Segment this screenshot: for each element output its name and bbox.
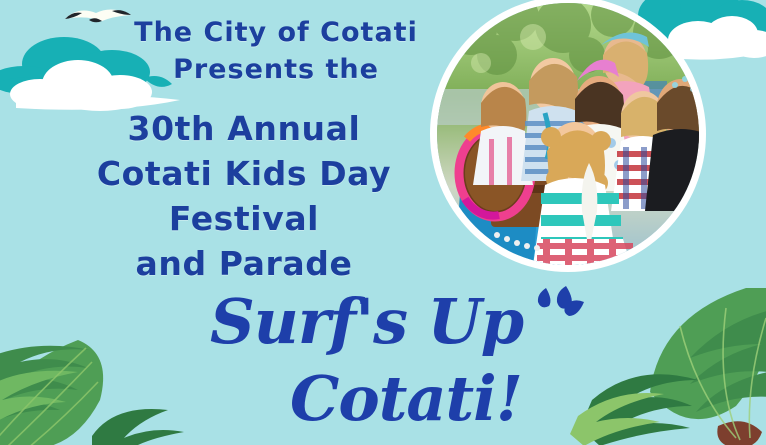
event-poster: The City of Cotati Presents the 30th Ann… [0, 0, 766, 445]
palm-frond-icon [0, 296, 232, 445]
tagline-line-1: Surf's Up [210, 289, 523, 355]
palm-frond-icon [540, 288, 766, 445]
headline-line-2: Presents the [96, 51, 456, 88]
title-line-3: Festival [44, 196, 444, 241]
title-line-1: 30th Annual [44, 106, 444, 151]
event-title: 30th Annual Cotati Kids Day Festival and… [44, 106, 444, 286]
headline-line-1: The City of Cotati [96, 14, 456, 51]
poster-headline: The City of Cotati Presents the [96, 14, 456, 88]
tagline-line-2: Cotati! [290, 366, 522, 432]
title-line-2: Cotati Kids Day [44, 151, 444, 196]
kids-festival-photo [437, 3, 699, 265]
title-line-4: and Parade [44, 241, 444, 286]
